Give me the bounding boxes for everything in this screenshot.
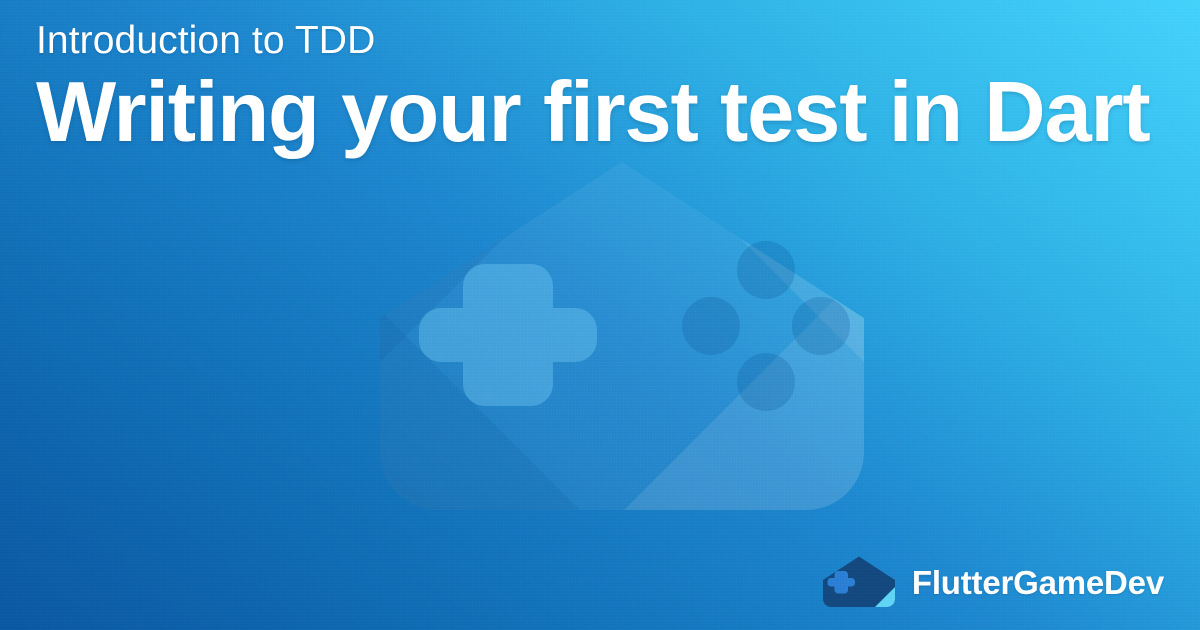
- gamepad-icon: [822, 556, 896, 608]
- page-title: Writing your first test in Dart: [36, 70, 1166, 157]
- social-share-card: Introduction to TDD Writing your first t…: [0, 0, 1200, 630]
- brand-name-label: FlutterGameDev: [912, 566, 1164, 599]
- brand-logo: FlutterGameDev: [822, 556, 1164, 608]
- card-text-block: Introduction to TDD Writing your first t…: [36, 18, 1166, 157]
- eyebrow-label: Introduction to TDD: [36, 18, 1166, 64]
- gamepad-watermark-icon: [372, 160, 872, 512]
